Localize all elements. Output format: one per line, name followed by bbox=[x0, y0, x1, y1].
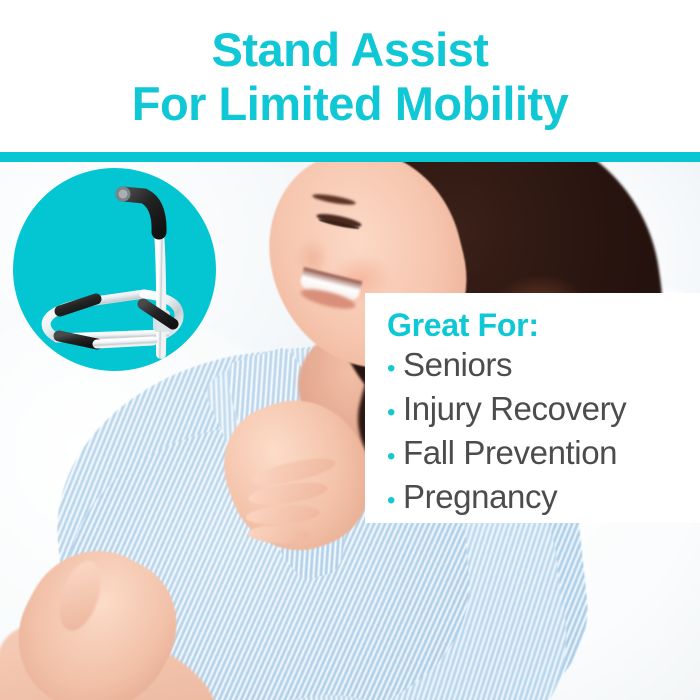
list-item-label: Pregnancy bbox=[403, 477, 557, 517]
benefits-card-title: Great For: bbox=[387, 307, 700, 343]
benefits-list: • Seniors • Injury Recovery • Fall Preve… bbox=[387, 345, 700, 521]
list-item-label: Seniors bbox=[403, 345, 512, 385]
bullet-icon: • bbox=[387, 437, 395, 477]
header-banner: Stand Assist For Limited Mobility bbox=[0, 0, 700, 152]
list-item-label: Injury Recovery bbox=[403, 389, 626, 429]
product-poster: Stand Assist For Limited Mobility bbox=[0, 0, 700, 700]
list-item: • Injury Recovery bbox=[387, 389, 700, 433]
headline-line-2: For Limited Mobility bbox=[132, 77, 568, 130]
list-item: • Fall Prevention bbox=[387, 433, 700, 477]
headline-line-1: Stand Assist bbox=[212, 23, 489, 76]
list-item: • Pregnancy bbox=[387, 477, 700, 521]
benefits-card: Great For: • Seniors • Injury Recovery •… bbox=[365, 293, 700, 523]
header-divider-bar bbox=[0, 152, 700, 162]
stand-assist-bed-rail-icon bbox=[13, 168, 216, 371]
bullet-icon: • bbox=[387, 481, 395, 521]
list-item: • Seniors bbox=[387, 345, 700, 389]
bullet-icon: • bbox=[387, 349, 395, 389]
list-item-label: Fall Prevention bbox=[403, 433, 617, 473]
bullet-icon: • bbox=[387, 393, 395, 433]
product-badge-circle bbox=[13, 168, 216, 371]
